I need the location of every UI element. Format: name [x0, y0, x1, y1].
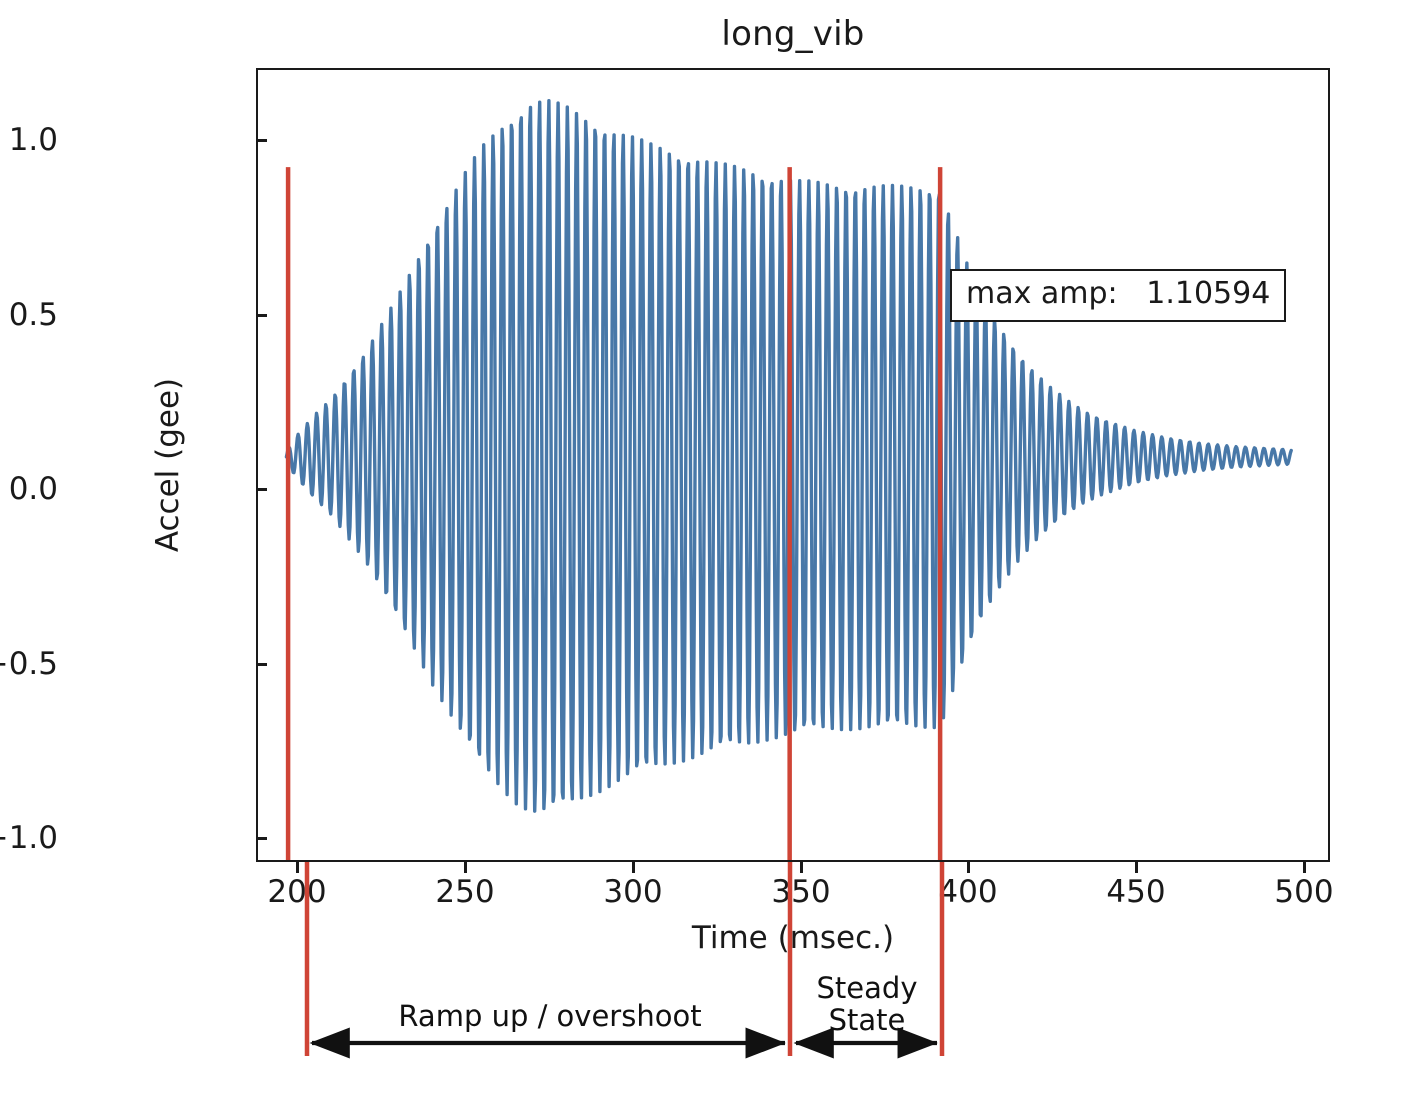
- figure-canvas: long_vib Accel (gee) 1.0 0.5 0.0 −0.5 −1…: [0, 0, 1410, 1100]
- y-tick-mark: [256, 139, 267, 142]
- y-tick-label: −1.0: [0, 820, 58, 856]
- plot-svg: [258, 70, 1328, 860]
- x-tick-mark: [632, 862, 635, 873]
- y-tick-label: 1.0: [9, 122, 58, 158]
- x-tick-mark: [1303, 862, 1306, 873]
- ramp-up-region-label: Ramp up / overshoot: [310, 1000, 790, 1032]
- x-tick-label: 350: [771, 874, 830, 910]
- chart-title: long_vib: [256, 14, 1330, 54]
- x-tick-label: 450: [1106, 874, 1165, 910]
- y-tick-mark: [256, 488, 267, 491]
- y-tick-label: −0.5: [0, 646, 58, 682]
- max-amp-annotation: max amp: 1.10594: [950, 269, 1286, 322]
- x-axis-label: Time (msec.): [256, 920, 1330, 956]
- x-tick-label: 500: [1274, 874, 1333, 910]
- x-tick-label: 400: [938, 874, 997, 910]
- x-tick-mark: [296, 862, 299, 873]
- x-tick-mark: [800, 862, 803, 873]
- y-tick-mark: [256, 837, 267, 840]
- x-tick-mark: [1135, 862, 1138, 873]
- y-axis-label: Accel (gee): [150, 315, 186, 615]
- x-tick-mark: [967, 862, 970, 873]
- y-tick-mark: [256, 314, 267, 317]
- y-tick-label: 0.5: [9, 297, 58, 333]
- y-tick-mark: [256, 663, 267, 666]
- x-tick-label: 250: [435, 874, 494, 910]
- y-tick-label: 0.0: [9, 471, 58, 507]
- x-tick-label: 300: [603, 874, 662, 910]
- x-tick-label: 200: [267, 874, 326, 910]
- plot-area: [256, 68, 1330, 862]
- steady-state-region-label: Steady State: [792, 972, 942, 1037]
- x-tick-mark: [464, 862, 467, 873]
